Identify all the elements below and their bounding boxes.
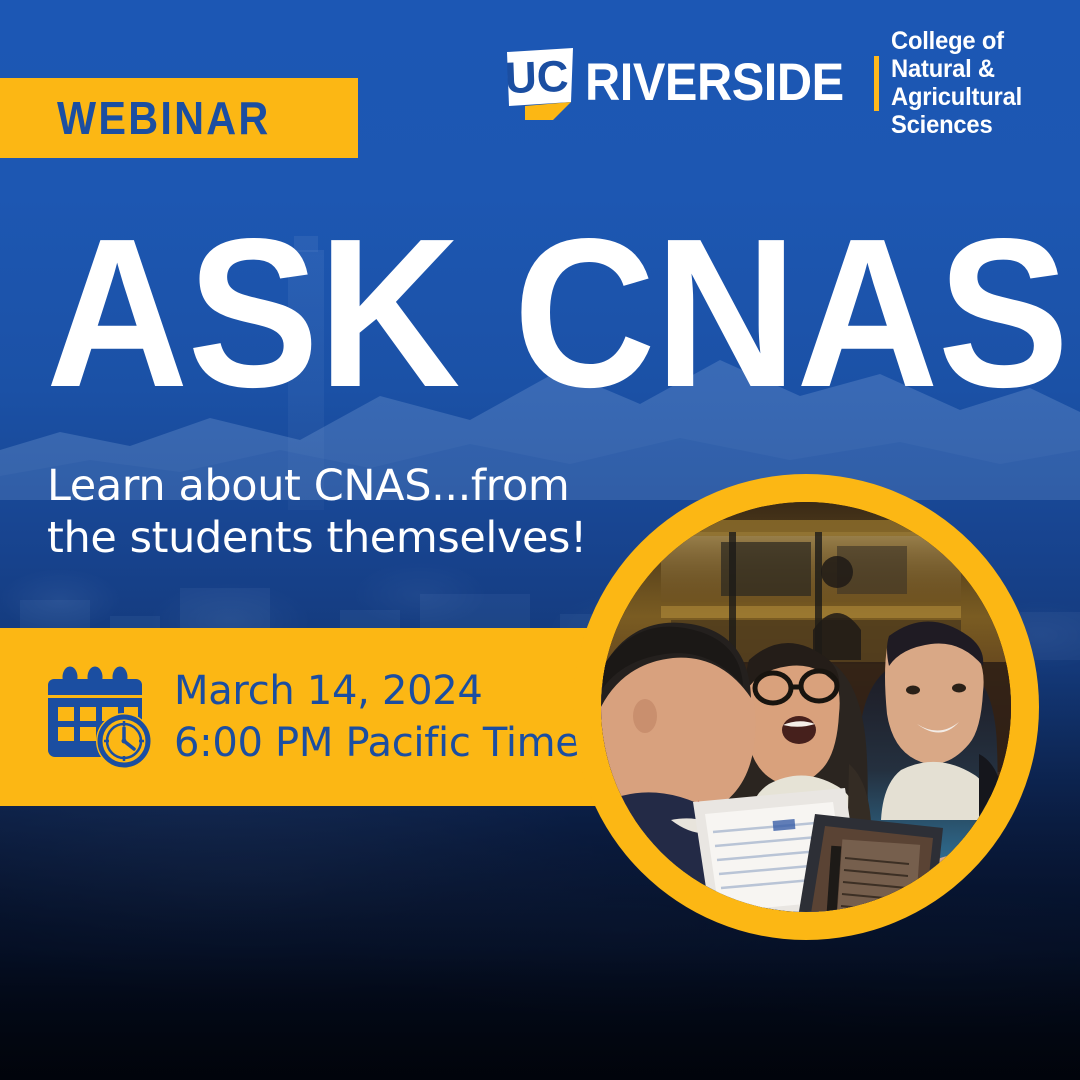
- poster-canvas: UC RIVERSIDE College of Natural & Agricu…: [0, 0, 1080, 1080]
- webinar-badge: WEBINAR: [0, 78, 358, 158]
- webinar-badge-label: WEBINAR: [57, 91, 271, 145]
- riverside-wordmark: RIVERSIDE: [585, 56, 844, 109]
- college-name: College of Natural & Agricultural Scienc…: [891, 27, 1070, 139]
- subtitle: Learn about CNAS...from the students the…: [47, 460, 587, 565]
- student-photo: [601, 502, 1011, 912]
- ucr-logo-lockup: UC RIVERSIDE College of Natural & Agricu…: [503, 46, 1080, 120]
- uc-monogram-icon: UC: [503, 46, 577, 120]
- svg-text:UC: UC: [504, 52, 569, 103]
- calendar-clock-icon: [48, 665, 152, 769]
- page-title: ASK CNAS: [46, 214, 1068, 411]
- event-datetime: March 14, 2024 6:00 PM Pacific Time: [174, 665, 580, 769]
- logo-divider: [874, 56, 879, 111]
- event-details-banner: March 14, 2024 6:00 PM Pacific Time: [0, 628, 600, 806]
- student-photo-frame: [573, 474, 1039, 940]
